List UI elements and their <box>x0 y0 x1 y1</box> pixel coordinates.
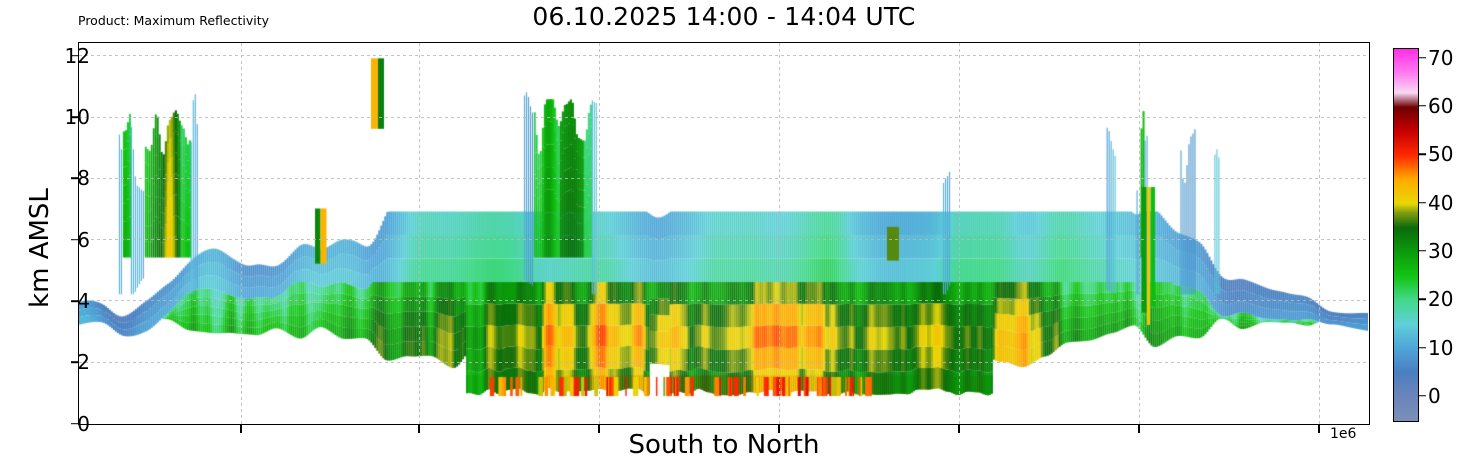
y-axis-tick-label: 8 <box>77 166 90 190</box>
colorbar-tick-mark <box>1419 105 1426 107</box>
y-axis-label: km AMSL <box>25 148 55 348</box>
y-axis-tick-label: 4 <box>77 289 90 313</box>
colorbar-tick-label: 0 <box>1428 384 1441 408</box>
radar-cross-section-figure: Product: Maximum Reflectivity 06.10.2025… <box>0 0 1482 470</box>
y-axis-tick-label: 2 <box>77 350 90 374</box>
colorbar-tick-label: 50 <box>1428 142 1453 166</box>
page-title: 06.10.2025 14:00 - 14:04 UTC <box>78 2 1370 31</box>
colorbar-tick-label: 60 <box>1428 94 1453 118</box>
y-axis-tick-label: 12 <box>65 44 90 68</box>
plot-area <box>78 42 1370 425</box>
colorbar-tick-label: 10 <box>1428 336 1453 360</box>
colorbar-tick-mark <box>1419 347 1426 349</box>
x-axis-label: South to North <box>78 430 1370 460</box>
colorbar-tick-mark <box>1419 395 1426 397</box>
colorbar-tick-mark <box>1419 298 1426 300</box>
colorbar-tick-mark <box>1419 57 1426 59</box>
colorbar-label-wrapper: dBZ <box>1396 172 1482 292</box>
y-axis-tick-label: 6 <box>77 228 90 252</box>
reflectivity-heatmap <box>79 43 1368 423</box>
y-axis-tick-label: 10 <box>65 105 90 129</box>
colorbar-tick-mark <box>1419 154 1426 156</box>
colorbar-tick-label: 70 <box>1428 46 1453 70</box>
x-axis-offset-text: 1e6 <box>1330 426 1356 442</box>
